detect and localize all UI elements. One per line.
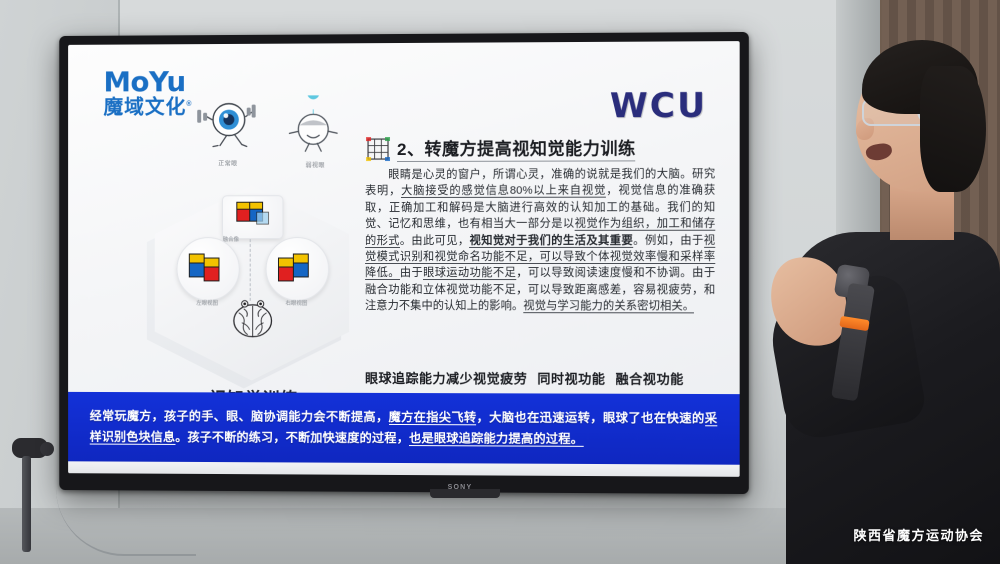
tripod-knob — [40, 442, 54, 456]
presentation-slide: MoYu 魔域文化® WCU — [68, 41, 740, 477]
mascot-healthy-eye: 正常眼 — [192, 90, 263, 168]
banner-seg-0: 经常玩魔方，孩子的手、眼、脑协调能力会不断提高， — [90, 409, 389, 424]
slide-blue-banner: 经常玩魔方，孩子的手、眼、脑协调能力会不断提高，魔方在指尖飞转，大脑也在迅速运转… — [68, 392, 740, 465]
presenter — [770, 26, 1000, 564]
foot-label-0: 眼球追踪能力减少视觉疲劳 — [365, 371, 527, 386]
banner-seg-1: 魔方在指尖飞转 — [389, 410, 477, 425]
foot-label-2: 融合视功能 — [616, 372, 684, 387]
para-seg-9: 眼球运动功能不足 — [423, 267, 516, 280]
banner-seg-6: 也是眼球追踪能力提高的过程。 — [409, 431, 583, 447]
banner-seg-5: 。孩子不断的练习，不断加快速度的过程， — [175, 430, 409, 445]
presenter-hair-back — [920, 66, 986, 192]
cube-icon-left — [177, 238, 238, 300]
mascot-healthy-eye-caption: 正常眼 — [192, 158, 263, 167]
tv-brand-label: SONY — [440, 483, 480, 493]
para-seg-1: 大脑接受的感觉信息80%以上来自视觉 — [401, 185, 606, 198]
slide-title: 2、转魔方提高视知觉能力训练 — [397, 134, 636, 162]
healthy-eye-icon — [192, 90, 263, 152]
tripod-leg — [22, 456, 31, 552]
para-seg-8: 由于 — [400, 267, 423, 279]
television: MoYu 魔域文化® WCU — [59, 32, 749, 494]
para-seg-5: 视知觉对于我们的生活及其重要 — [470, 234, 634, 247]
visual-perception-diagram: 融合像 左眼视图 — [145, 179, 363, 389]
banner-seg-3: 快速的 — [667, 411, 705, 425]
wcu-logo: WCU — [610, 86, 707, 127]
cube-icon-right — [267, 238, 329, 300]
slide-text-column: 2、转魔方提高视知觉能力训练 眼睛是心灵的窗户，所谓心灵，准确的说就是我们的大脑… — [365, 134, 715, 315]
diagram-node-right-eye — [266, 237, 330, 301]
slide-paragraph: 眼睛是心灵的窗户，所谓心灵，准确的说就是我们的大脑。研究表明，大脑接受的感觉信息… — [365, 166, 715, 315]
slide-title-row: 2、转魔方提高视知觉能力训练 — [365, 134, 715, 162]
banner-seg-2: ，大脑也在迅速运转，眼球了也在 — [477, 410, 667, 425]
para-seg-4: 。由此可见， — [400, 235, 470, 247]
diagram-node-fused — [222, 195, 283, 239]
watermark: 陕西省魔方运动协会 — [853, 525, 984, 544]
mascot-weak-eye-caption: 弱视眼 — [283, 160, 347, 169]
diagram-node-left-eye — [176, 237, 239, 301]
para-seg-6: 。例如，由于 — [633, 234, 704, 246]
banner-text: 经常玩魔方，孩子的手、眼、脑协调能力会不断提高，魔方在指尖飞转，大脑也在迅速运转… — [68, 406, 740, 451]
mascot-weak-eye: 弱视眼 — [283, 95, 347, 169]
slide-foot-labels: 眼球追踪能力减少视觉疲劳同时视功能融合视功能 — [365, 368, 727, 388]
rubiks-cube-icon — [365, 136, 391, 162]
diagram-connector — [250, 239, 251, 301]
tv-screen: MoYu 魔域文化® WCU — [68, 41, 740, 477]
cube-icon-fused — [223, 196, 283, 238]
conference-room-scene: MoYu 魔域文化® WCU — [0, 0, 1000, 564]
weak-eye-icon — [283, 95, 347, 153]
brain-icon — [230, 297, 276, 339]
para-seg-11: 视觉与学习能力的关系密切相关。 — [523, 300, 694, 313]
foot-label-1: 同时视功能 — [537, 371, 605, 386]
slide-bottom-strip — [68, 461, 740, 477]
